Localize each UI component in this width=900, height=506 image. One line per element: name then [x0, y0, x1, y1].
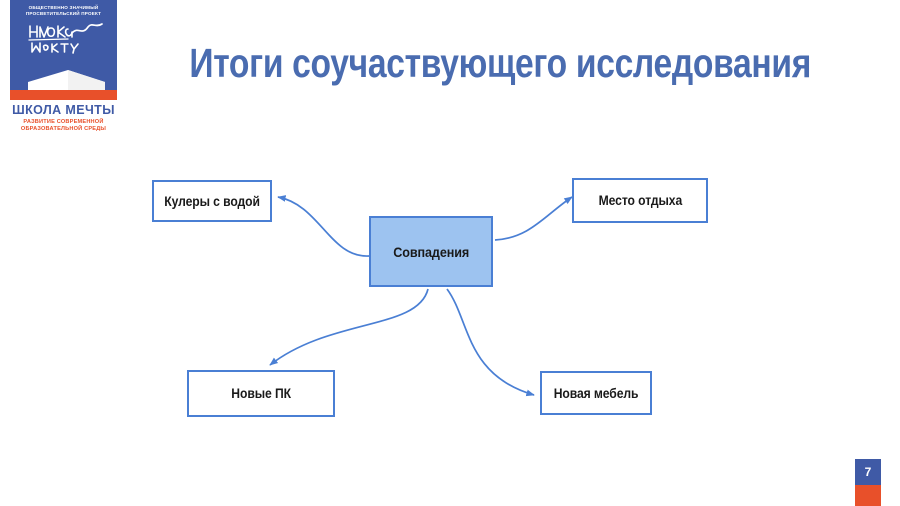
edge-center-to-furniture: [447, 289, 534, 395]
diagram-node-rest-area[interactable]: Место отдыха: [572, 178, 708, 223]
page-number-badge: 7: [855, 459, 881, 485]
diagram-node-new-pcs[interactable]: Новые ПК: [187, 370, 335, 417]
edge-center-to-coolers: [278, 197, 369, 256]
diagram-node-coolers-label: Кулеры с водой: [164, 194, 260, 209]
diagram-node-center[interactable]: Совпадения: [369, 216, 493, 287]
edge-center-to-pc: [270, 289, 428, 365]
diagram-node-new-furniture[interactable]: Новая мебель: [540, 371, 652, 415]
edge-center-to-rest: [495, 197, 572, 240]
diagram-node-rest-area-label: Место отдыха: [598, 193, 682, 208]
slide-canvas: ОБЩЕСТВЕННО ЗНАЧИМЫЙ ПРОСВЕТИТЕЛЬСКИЙ ПР…: [0, 0, 900, 506]
diagram-node-coolers[interactable]: Кулеры с водой: [152, 180, 272, 222]
diagram-node-center-label: Совпадения: [393, 244, 469, 260]
page-badge-orange-accent: [855, 485, 881, 506]
diagram-node-new-pcs-label: Новые ПК: [231, 386, 291, 401]
diagram-node-new-furniture-label: Новая мебель: [554, 386, 639, 401]
